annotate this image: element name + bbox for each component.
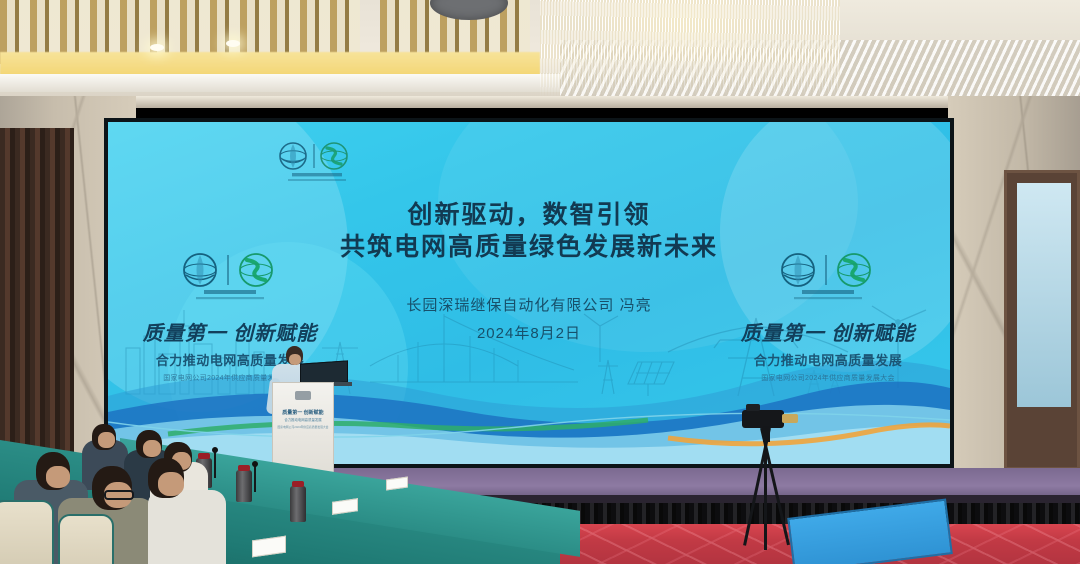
screen-title-line1: 创新驱动，数智引领 <box>108 200 950 231</box>
chandelier-strands <box>540 0 840 98</box>
door-glass <box>1017 183 1071 407</box>
door-right <box>1004 170 1080 470</box>
state-grid-supply-chain-logo <box>772 250 884 302</box>
chair-row <box>0 452 170 564</box>
conference-photo-scene: state-grid-supply-chain-logo 创新驱动，数智引领 共… <box>0 0 1080 564</box>
led-screen-bezel: state-grid-supply-chain-logo 创新驱动，数智引领 共… <box>104 118 954 468</box>
ceiling-panel <box>0 74 560 92</box>
crystal-chandelier <box>540 0 840 98</box>
chair <box>58 514 114 564</box>
banner-right-footnote: 国家电网公司2024年供应商质量发展大会 <box>720 373 936 383</box>
microphone <box>254 466 256 492</box>
microphone <box>214 452 216 478</box>
thermos <box>290 486 306 522</box>
chair <box>0 500 54 564</box>
podium-line2: 合力推动电网高质量发展 <box>273 417 333 422</box>
delegate-face <box>98 432 115 448</box>
video-camera-lens-icon <box>782 414 798 423</box>
banner-right-subhead: 合力推动电网高质量发展 <box>720 350 936 369</box>
led-screen: state-grid-supply-chain-logo 创新驱动，数智引领 共… <box>108 122 950 464</box>
banner-right: 质量第一 创新赋能 合力推动电网高质量发展 国家电网公司2024年供应商质量发展… <box>720 250 936 383</box>
banner-left-headline: 质量第一 创新赋能 <box>122 317 338 346</box>
ceiling <box>0 0 1080 100</box>
podium-emblem-icon <box>295 391 311 400</box>
tripod-head <box>763 426 770 442</box>
video-camera-viewfinder <box>746 404 760 411</box>
wall-cornice <box>0 96 1080 108</box>
podium-line1: 质量第一 创新赋能 <box>273 409 333 416</box>
state-grid-supply-chain-logo <box>174 250 286 302</box>
thermos <box>236 470 252 502</box>
downlight-icon <box>226 40 240 47</box>
banner-right-headline: 质量第一 创新赋能 <box>720 317 936 346</box>
state-grid-supply-chain-logo: state-grid-supply-chain-logo <box>274 140 360 184</box>
downlight-icon <box>150 44 164 51</box>
podium-line3: 国家电网公司2024年供应商质量发展大会 <box>273 425 333 429</box>
